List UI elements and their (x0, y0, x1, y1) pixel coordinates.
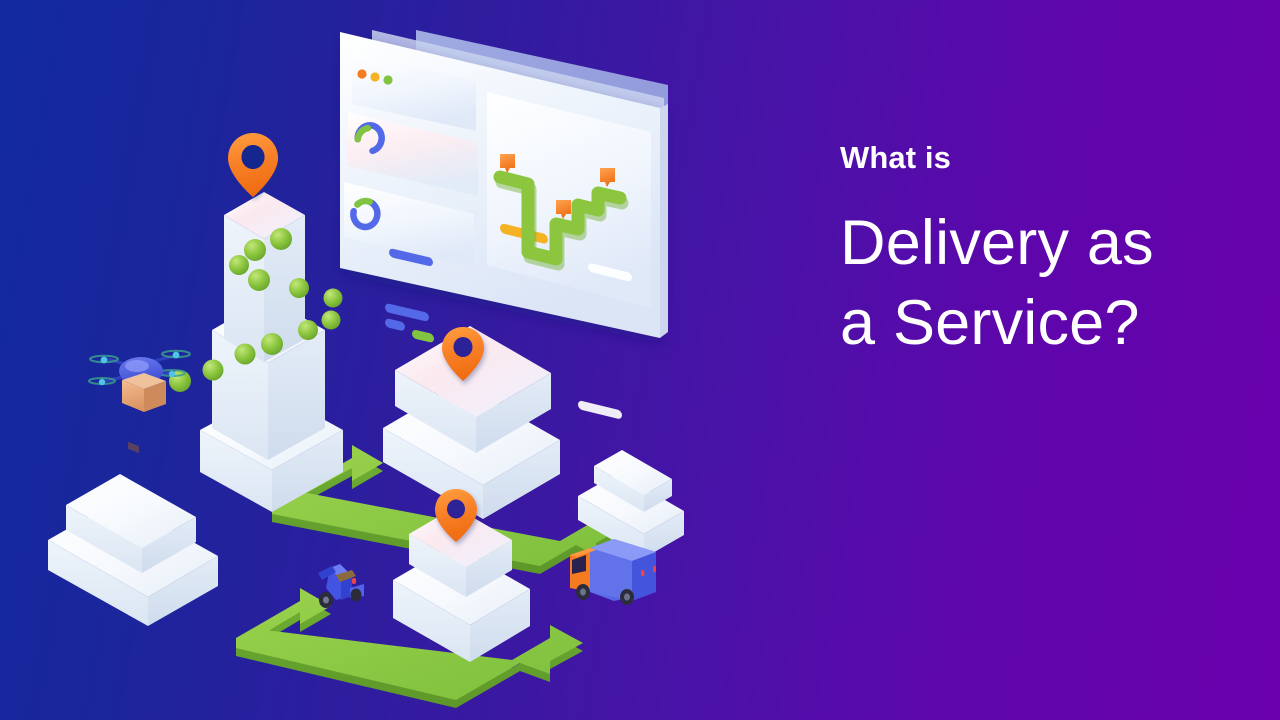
page-title: Delivery as a Service? (840, 203, 1240, 364)
bar-blue-2 (385, 303, 429, 322)
map-pin-tower[interactable] (228, 133, 278, 197)
dot-red-icon (357, 69, 366, 78)
map-pill-bottom (578, 400, 622, 420)
dot-green-icon (383, 75, 392, 84)
bar-green-2 (412, 329, 434, 343)
bar-blue-3 (385, 318, 405, 332)
delivery-scooter[interactable] (318, 564, 364, 608)
headline-kicker: What is (840, 140, 1240, 177)
slide-canvas: What is Delivery as a Service? (0, 0, 1280, 720)
headline-block: What is Delivery as a Service? (840, 140, 1240, 364)
building-left-low (48, 474, 218, 626)
hero-illustration (0, 0, 760, 720)
dashboard-edge (660, 104, 668, 338)
drone-package (122, 373, 166, 453)
dot-amber-icon (370, 72, 379, 81)
delivery-drone[interactable] (89, 351, 190, 453)
